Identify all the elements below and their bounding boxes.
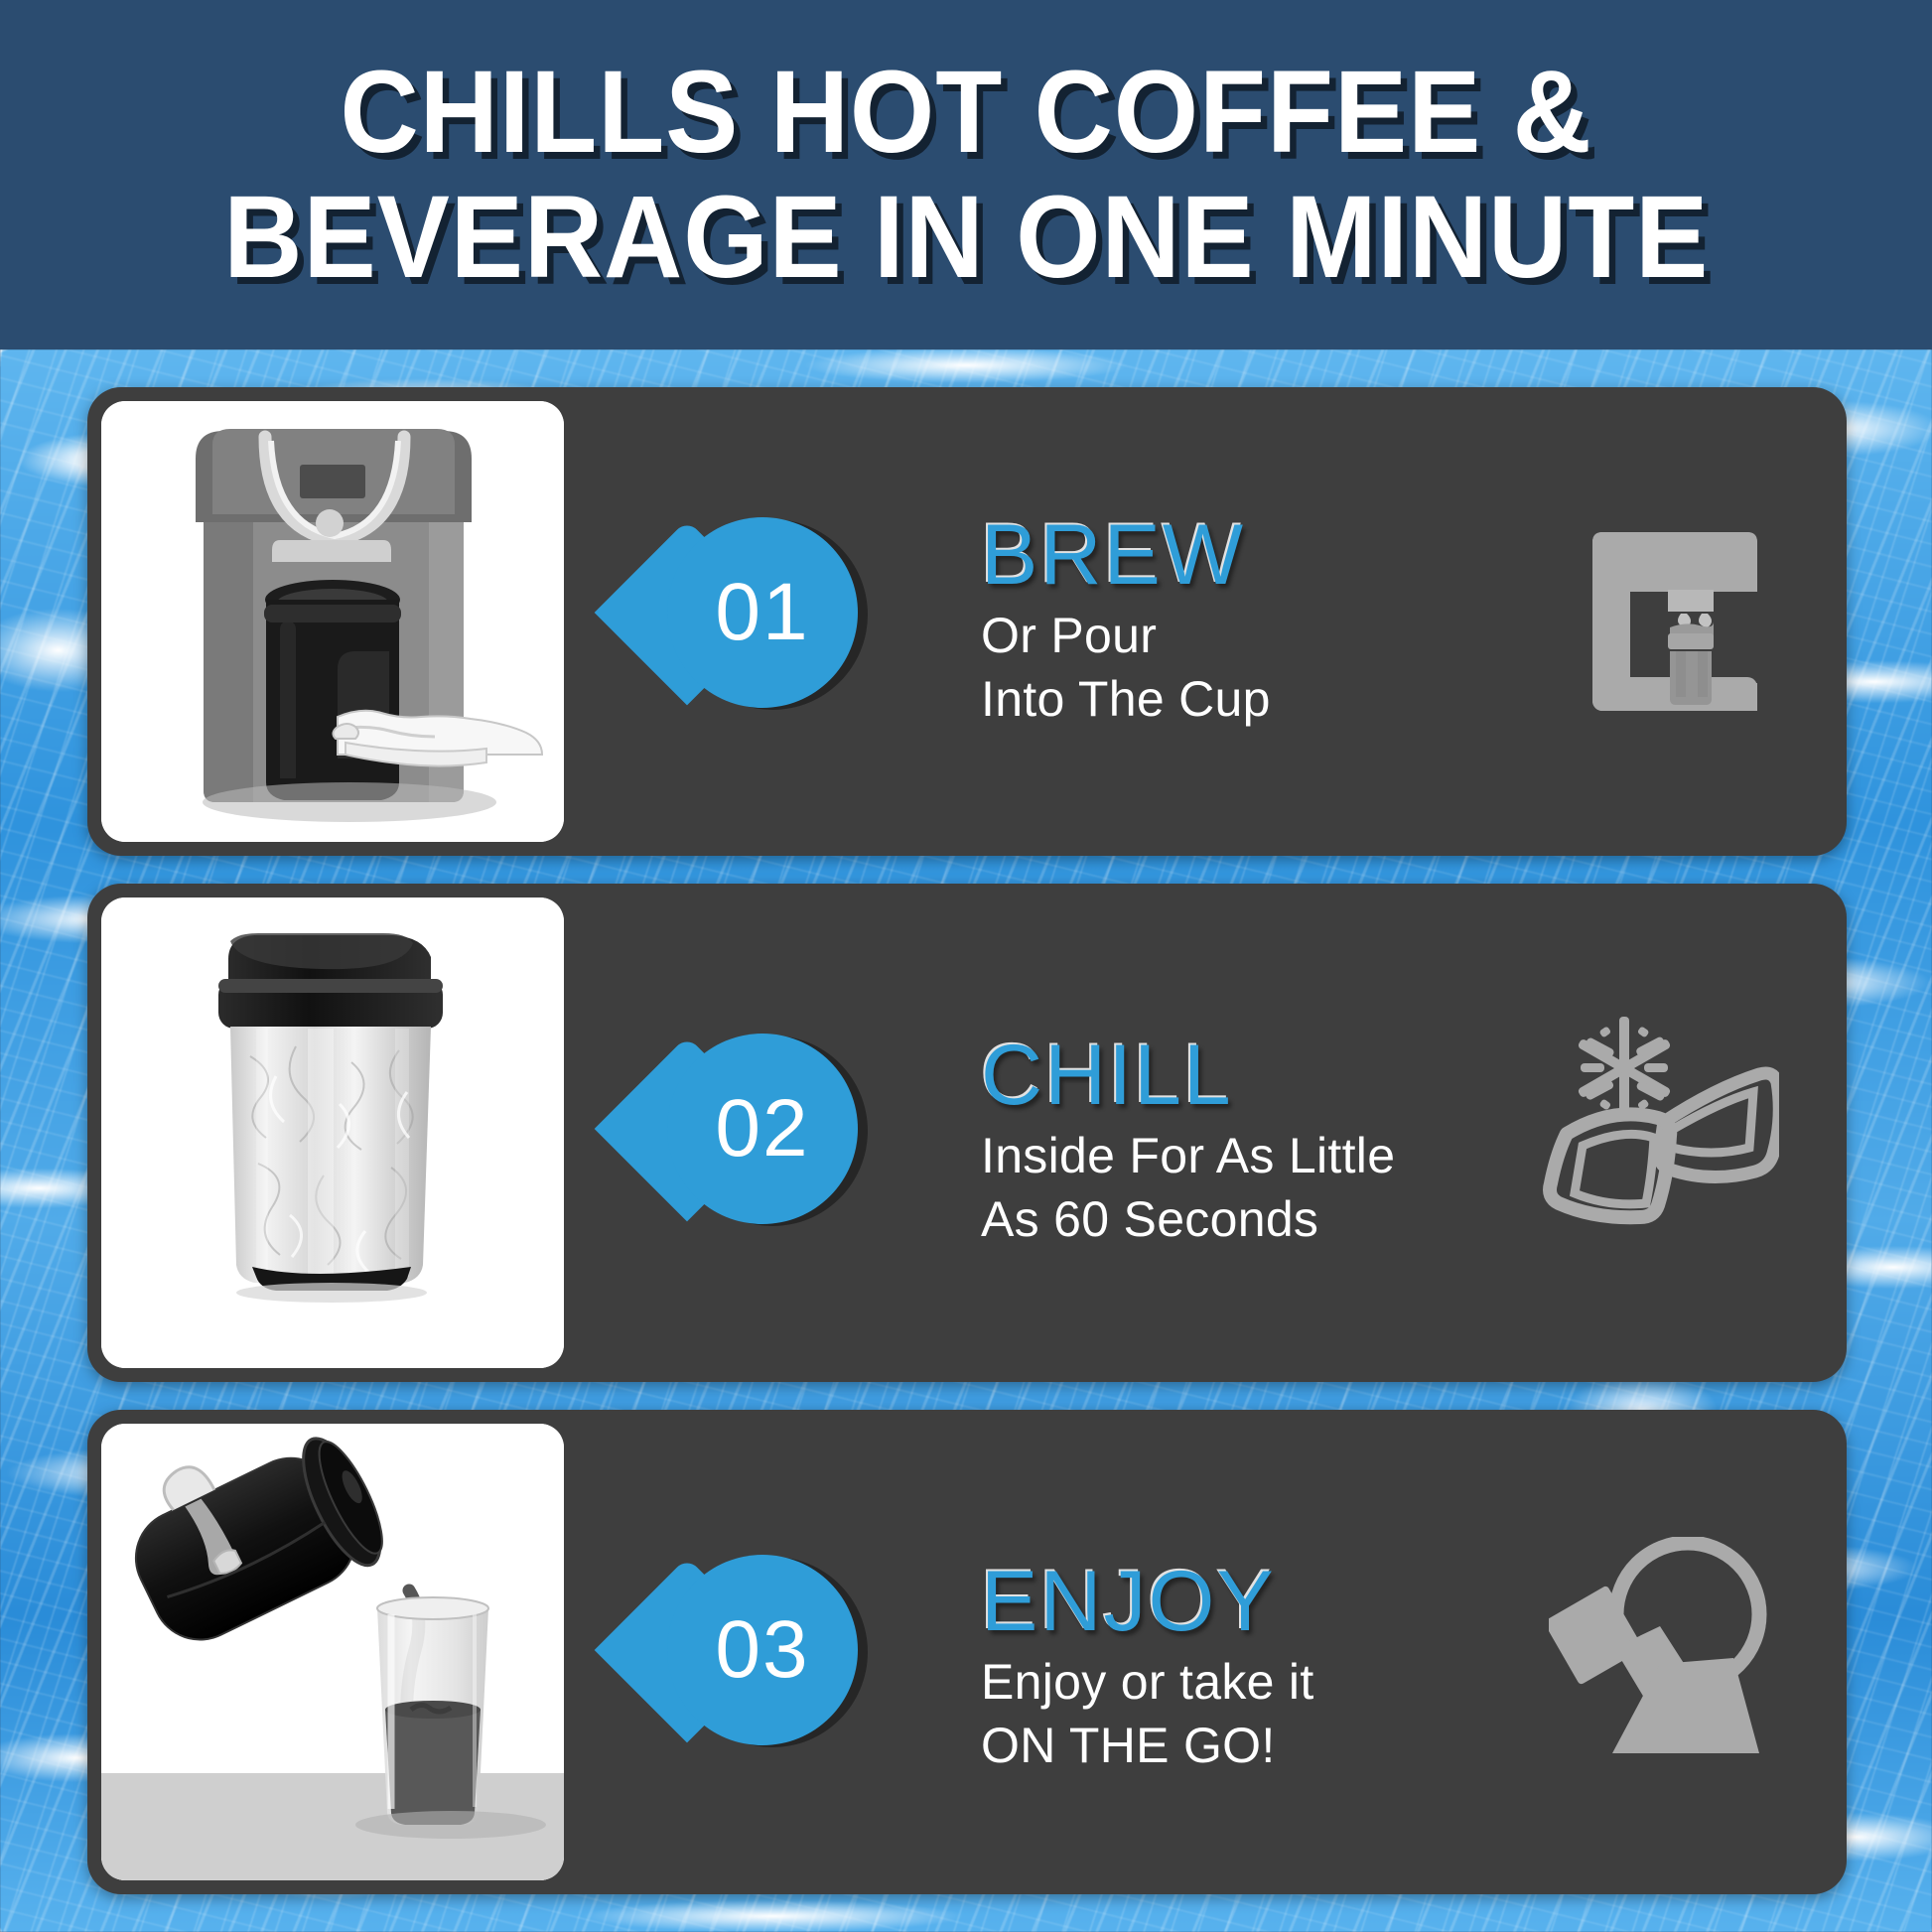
step-badge-01: 01	[667, 517, 858, 708]
steps-list: 01 BREW Or Pour Into The Cup	[0, 349, 1932, 1932]
step-number-03: 03	[667, 1555, 858, 1745]
step-sub-line1-03: Enjoy or take it	[981, 1650, 1314, 1714]
pouring-tumbler-icon	[1549, 1537, 1779, 1763]
step-card-03[interactable]: 03 ENJOY Enjoy or take it ON THE GO!	[87, 1410, 1847, 1894]
step-number-02: 02	[667, 1034, 858, 1224]
step-photo-chill	[101, 897, 564, 1368]
step-card-02[interactable]: 02 CHILL Inside For As Little As 60 Seco…	[87, 884, 1847, 1382]
step-photo-brew	[101, 401, 564, 842]
infographic-page: CHILLS HOT COFFEE & BEVERAGE IN ONE MINU…	[0, 0, 1932, 1932]
step-sub-line1-01: Or Pour	[981, 604, 1271, 667]
header-title-line-2: BEVERAGE IN ONE MINUTE	[223, 175, 1709, 300]
step-sub-line1-02: Inside For As Little	[981, 1124, 1395, 1187]
step-text-02: CHILL Inside For As Little As 60 Seconds	[981, 1033, 1395, 1251]
step-card-01[interactable]: 01 BREW Or Pour Into The Cup	[87, 387, 1847, 856]
step-sub-line2-02: As 60 Seconds	[981, 1187, 1395, 1251]
ice-cubes-snowflake-icon	[1537, 1011, 1779, 1241]
header-banner: CHILLS HOT COFFEE & BEVERAGE IN ONE MINU…	[0, 0, 1932, 349]
step-heading-chill: CHILL	[981, 1033, 1395, 1118]
step-photo-enjoy	[101, 1424, 564, 1880]
step-sub-line2-03: ON THE GO!	[981, 1714, 1314, 1777]
step-badge-03: 03	[667, 1555, 858, 1745]
step-text-03: ENJOY Enjoy or take it ON THE GO!	[981, 1559, 1314, 1777]
step-heading-brew: BREW	[981, 512, 1271, 598]
step-badge-02: 02	[667, 1034, 858, 1224]
step-sub-line2-01: Into The Cup	[981, 667, 1271, 731]
step-heading-enjoy: ENJOY	[981, 1559, 1314, 1644]
header-title-line-1: CHILLS HOT COFFEE &	[340, 50, 1591, 175]
step-text-01: BREW Or Pour Into The Cup	[981, 512, 1271, 731]
coffee-maker-icon	[1569, 516, 1779, 727]
step-number-01: 01	[667, 517, 858, 708]
